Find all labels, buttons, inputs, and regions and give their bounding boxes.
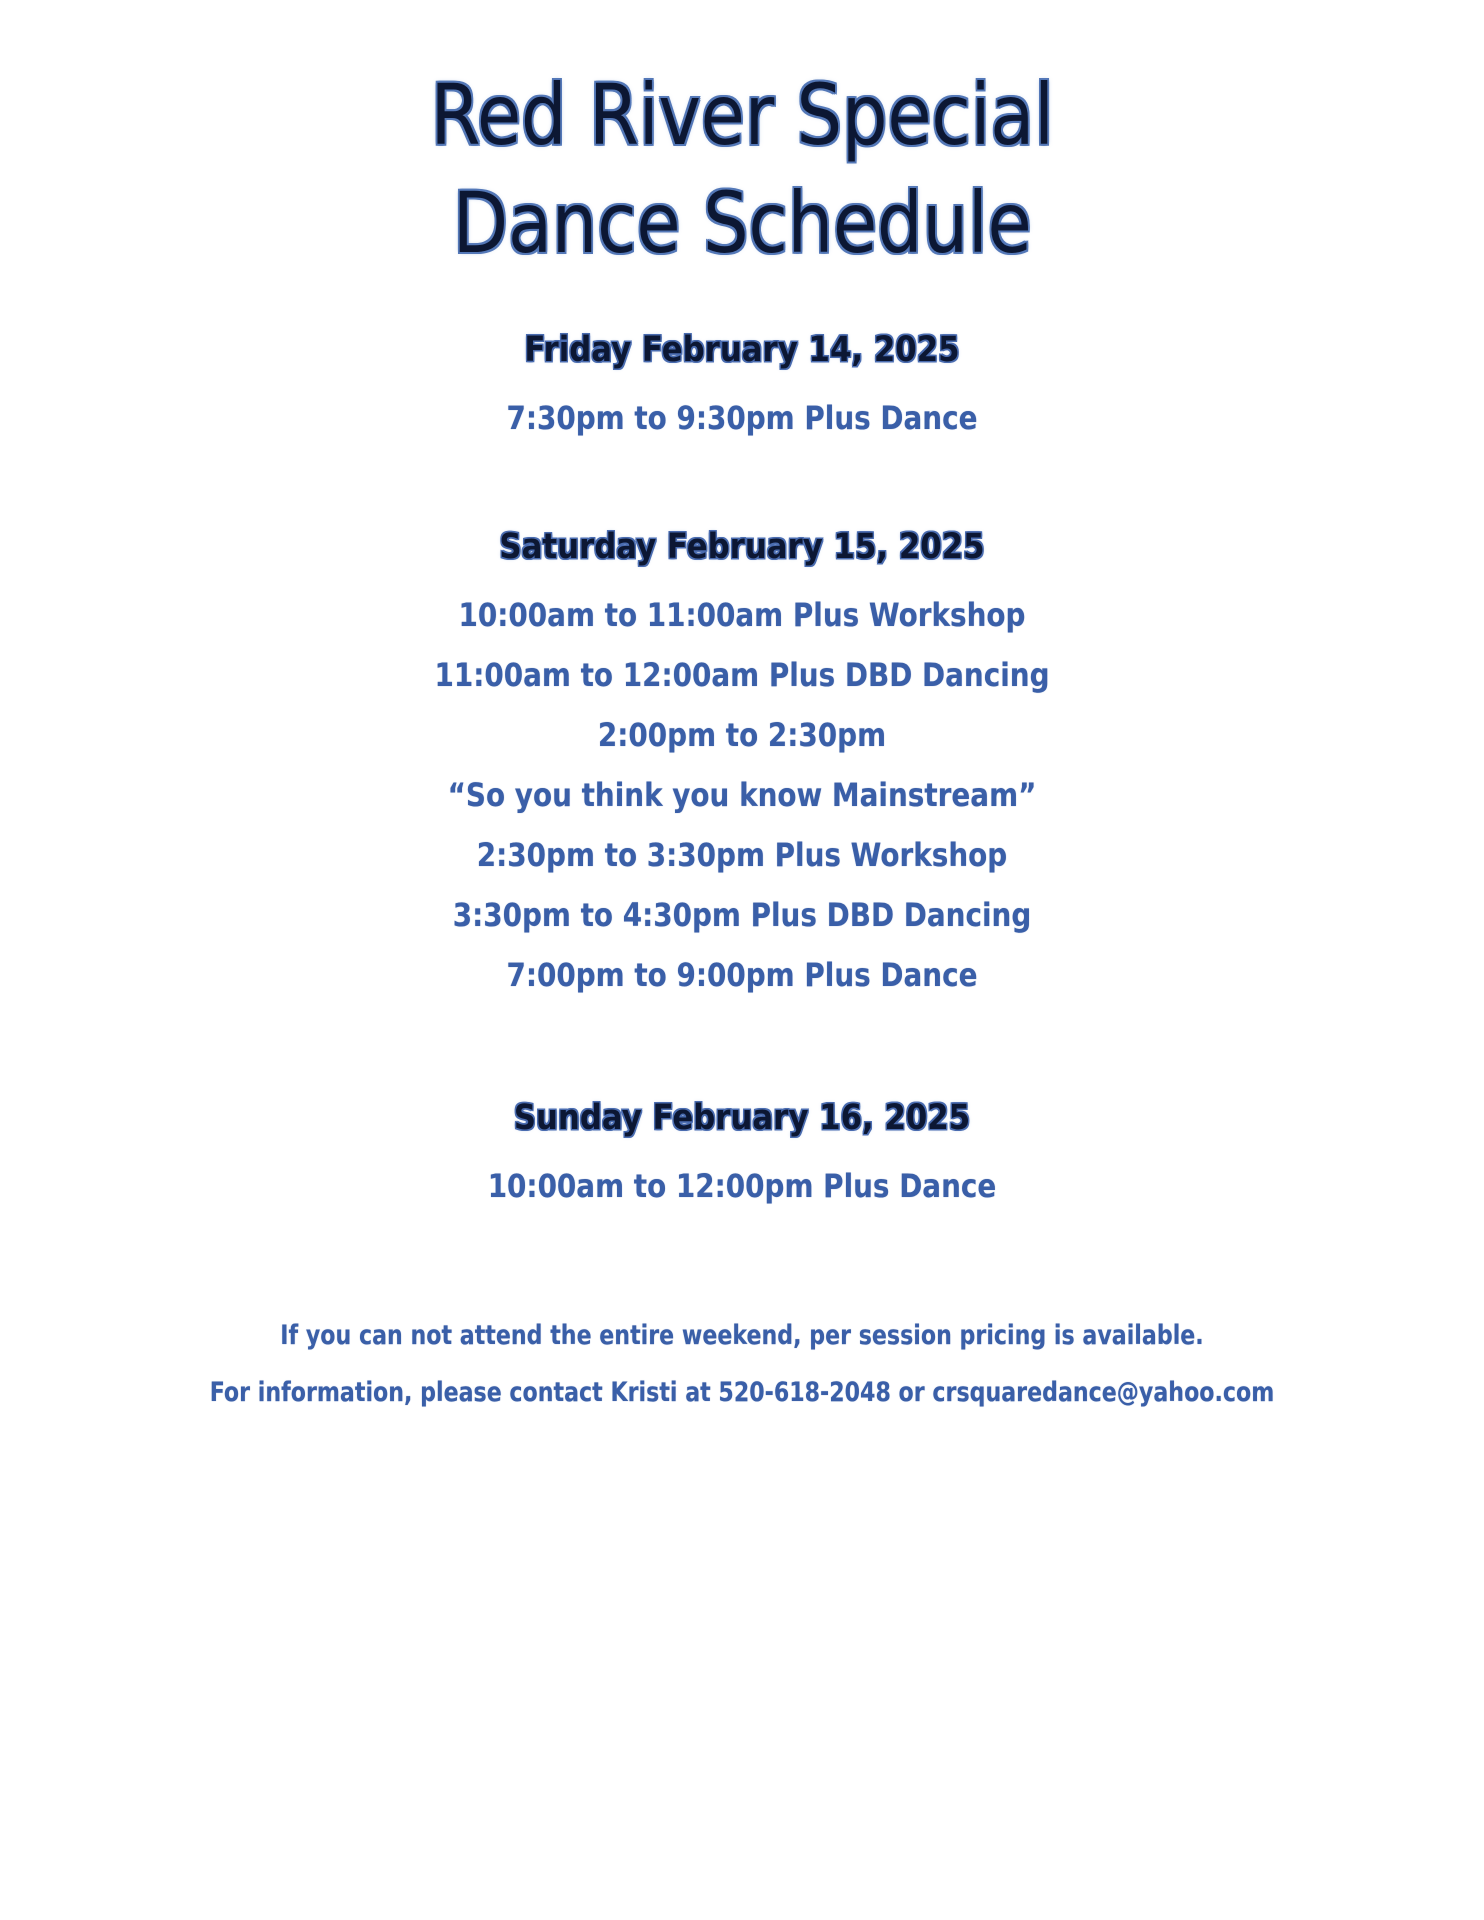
- session-saturday-2: 11:00am to 12:00am Plus DBD Dancing: [96, 659, 1387, 691]
- spacer-footer: [0, 1202, 1484, 1322]
- spacer: [0, 691, 1484, 719]
- footer-contact-info: For information, please contact Kristi a…: [134, 1379, 1351, 1406]
- session-saturday-6: 3:30pm to 4:30pm Plus DBD Dancing: [96, 899, 1387, 931]
- spacer: [0, 1136, 1484, 1170]
- spacer-title: [0, 277, 1484, 333]
- session-saturday-5: 2:30pm to 3:30pm Plus Workshop: [96, 839, 1387, 871]
- day-heading-friday: Friday February 14, 2025: [89, 333, 1395, 368]
- session-saturday-4: “So you think you know Mainstream”: [96, 779, 1387, 811]
- spacer: [0, 1349, 1484, 1379]
- day-section-friday: Friday February 14, 2025 7:30pm to 9:30p…: [0, 333, 1484, 434]
- session-saturday-3: 2:00pm to 2:30pm: [96, 719, 1387, 751]
- spacer: [0, 811, 1484, 839]
- session-sunday-1: 10:00am to 12:00pm Plus Dance: [96, 1170, 1387, 1202]
- spacer: [0, 565, 1484, 599]
- day-heading-saturday: Saturday February 15, 2025: [89, 530, 1395, 565]
- flyer-page: Red River Special Dance Schedule Friday …: [0, 0, 1484, 1920]
- title-line-2: Dance Schedule: [104, 170, 1380, 278]
- spacer: [0, 751, 1484, 779]
- spacer-saturday-sunday: [0, 991, 1484, 1101]
- session-friday-1: 7:30pm to 9:30pm Plus Dance: [96, 402, 1387, 434]
- day-section-saturday: Saturday February 15, 2025 10:00am to 11…: [0, 530, 1484, 991]
- page-title: Red River Special Dance Schedule: [0, 0, 1484, 277]
- spacer: [0, 871, 1484, 899]
- title-line-1: Red River Special: [104, 62, 1380, 170]
- day-heading-sunday: Sunday February 16, 2025: [89, 1101, 1395, 1136]
- spacer: [0, 931, 1484, 959]
- spacer-friday-saturday: [0, 434, 1484, 530]
- session-saturday-7: 7:00pm to 9:00pm Plus Dance: [96, 959, 1387, 991]
- day-section-sunday: Sunday February 16, 2025 10:00am to 12:0…: [0, 1101, 1484, 1202]
- spacer: [0, 368, 1484, 402]
- spacer: [0, 631, 1484, 659]
- session-saturday-1: 10:00am to 11:00am Plus Workshop: [96, 599, 1387, 631]
- footer-pricing-note: If you can not attend the entire weekend…: [134, 1322, 1351, 1349]
- footer: If you can not attend the entire weekend…: [0, 1322, 1484, 1406]
